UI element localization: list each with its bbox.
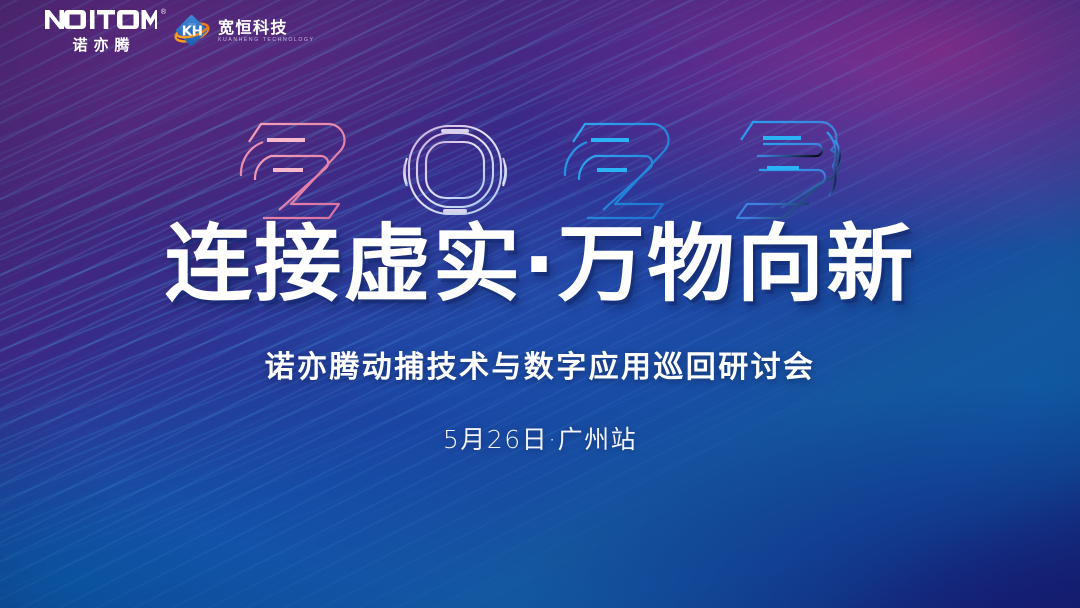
year-digit-0-white [399,118,511,222]
kuanheng-text-block: 宽恒科技 KUANHENG TECHNOLOGY [218,19,315,43]
poster-canvas: ® 诺亦腾 [0,0,1080,608]
kuanheng-logo: KH 宽恒科技 KUANHENG TECHNOLOGY [173,12,315,50]
year-digit-2-blue [557,118,677,222]
noitom-logo: ® 诺亦腾 [45,9,157,54]
kuanheng-chinese-name: 宽恒科技 [218,19,315,37]
kuanheng-english-name: KUANHENG TECHNOLOGY [218,38,315,44]
year-digit-3-gradient [723,118,847,222]
year-digit-2-pink [233,118,353,222]
date-location-text: 5月26日·广州站 [0,420,1080,456]
kuanheng-emblem: KH [173,12,211,50]
noitom-chinese-name: 诺亦腾 [66,37,135,54]
kh-diamond-orbit-icon: KH [173,12,211,50]
logo-bar: ® 诺亦腾 [45,9,315,54]
svg-text:KH: KH [182,24,203,40]
noitom-registered-mark: ® [161,9,166,16]
headline-title: 连接虚实·万物向新 [0,222,1080,306]
year-2023 [0,118,1080,222]
subtitle-text: 诺亦腾动捕技术与数字应用巡回研讨会 [0,342,1080,386]
noitom-wordmark: ® [45,9,157,35]
noitom-wordmark-icon [45,9,157,30]
